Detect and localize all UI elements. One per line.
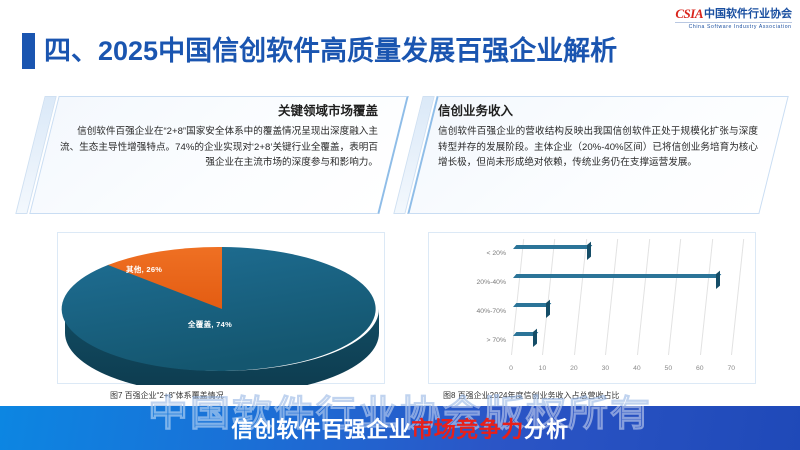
panel-xinchuang-revenue: 信创业务收入 信创软件百强企业的营收结构反映出我国信创软件正处于规模化扩张与深度… [422, 96, 774, 214]
banner-title-suffix: 分析 [524, 417, 569, 442]
csia-name-cn: 中国软件行业协会 [704, 9, 792, 20]
banner-title-highlight: 市场竞争力 [411, 417, 524, 442]
bar-side-face [546, 299, 550, 317]
banner-title-prefix: 信创软件百强企业 [231, 417, 411, 442]
bar-xaxis-tick-label: 70 [727, 365, 735, 372]
panel-left-heading: 关键领域市场覆盖 [60, 104, 378, 119]
bar-chart-card: 010203040506070< 20%20%-40%40%-70%> 70% [428, 232, 756, 384]
bar-category-label: 20%-40% [477, 279, 506, 286]
bar-chart: 010203040506070< 20%20%-40%40%-70%> 70% [429, 233, 757, 385]
bar-xaxis-tick-label: 50 [665, 365, 673, 372]
bar-gridline [668, 239, 681, 355]
figure7-caption: 图7 百强企业“2+8”体系覆盖情况 [110, 390, 224, 401]
logo-divider [675, 22, 792, 23]
pie-chart-svg [58, 233, 386, 385]
bar-gridline [637, 239, 650, 355]
slide-root: CSIA 中国软件行业协会 China Software Industry As… [0, 0, 800, 450]
bottom-banner: 中国软件行业协会版权所有 信创软件百强企业市场竞争力分析 [0, 406, 800, 450]
panel-right-heading: 信创业务收入 [438, 104, 758, 119]
figure8-caption: 图8 百强企业2024年度信创业务收入占总营收占比 [443, 390, 619, 401]
bar-side-face [716, 270, 720, 288]
bar-side-face [587, 241, 591, 259]
bar-xaxis-tick-label: 10 [539, 365, 547, 372]
bar-row[interactable]: 20%-40% [511, 278, 716, 293]
banner-title: 信创软件百强企业市场竞争力分析 [231, 412, 569, 444]
bar-xaxis-tick-label: 20 [570, 365, 578, 372]
page-title: 四、2025中国信创软件高质量发展百强企业解析 [44, 38, 617, 65]
bar-side-face [533, 328, 537, 346]
bar-category-label: < 20% [487, 250, 506, 257]
bar-row[interactable]: < 20% [511, 249, 587, 264]
bar-xaxis-tick-label: 60 [696, 365, 704, 372]
bar-category-label: > 70% [487, 337, 506, 344]
panel-right-body: 信创软件百强企业的营收结构反映出我国信创软件正处于规模化扩张与深度转型并存的发展… [438, 124, 758, 171]
pie-label-other: 其他, 26% [126, 264, 162, 275]
page-title-bar: 四、2025中国信创软件高质量发展百强企业解析 [22, 33, 617, 69]
csia-wordmark-icon: CSIA [675, 7, 703, 20]
bar-gridline [700, 239, 713, 355]
bar-xaxis-tick-label: 30 [602, 365, 610, 372]
pie-label-full-coverage: 全覆盖, 74% [188, 319, 232, 330]
bar-row[interactable]: 40%-70% [511, 307, 546, 322]
title-accent-bar-icon [22, 33, 35, 69]
csia-name-en: China Software Industry Association [673, 25, 792, 30]
bar-xaxis-tick-label: 40 [633, 365, 641, 372]
bar-xaxis-tick-label: 0 [509, 365, 513, 372]
pie-chart: 其他, 26% 全覆盖, 74% [58, 233, 386, 385]
bar-category-label: 40%-70% [477, 308, 506, 315]
panel-left-body: 信创软件百强企业在“2+8”国家安全体系中的覆盖情况呈现出深度融入主流、生态主导… [60, 124, 378, 171]
bar-row[interactable]: > 70% [511, 336, 533, 351]
bar-top-face [513, 245, 592, 249]
panel-key-market-coverage: 关键领域市场覆盖 信创软件百强企业在“2+8”国家安全体系中的覆盖情况呈现出深度… [44, 96, 394, 214]
pie-chart-card: 其他, 26% 全覆盖, 74% [57, 232, 385, 384]
bar-gridline [731, 239, 744, 355]
bar-top-face [513, 274, 721, 278]
csia-logo: CSIA 中国软件行业协会 China Software Industry As… [675, 7, 792, 30]
bar-gridline [605, 239, 618, 355]
